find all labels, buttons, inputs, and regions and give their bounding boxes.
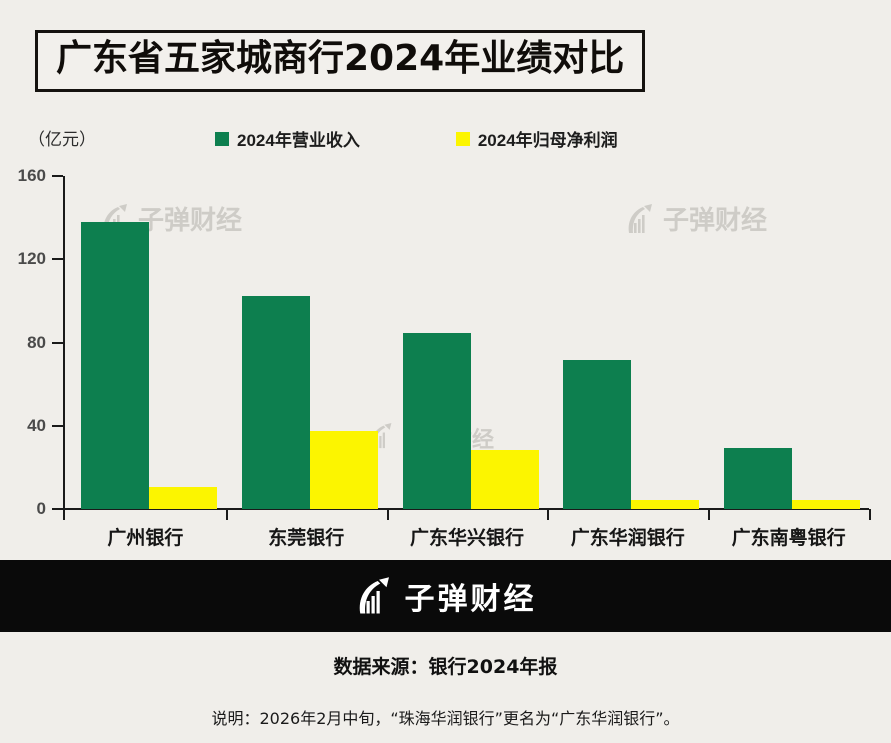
bar-group xyxy=(708,160,869,509)
bar-series-container xyxy=(65,160,869,509)
bar-group xyxy=(226,160,387,509)
legend-label-revenue: 2024年营业收入 xyxy=(237,126,360,151)
data-source-text: 数据来源：银行2024年报 xyxy=(0,652,891,679)
bar-revenue[interactable] xyxy=(403,333,471,509)
x-axis-separator xyxy=(547,509,549,520)
bar-group xyxy=(547,160,708,509)
x-axis-label: 广东华兴银行 xyxy=(387,523,548,550)
legend-label-profit: 2024年归母净利润 xyxy=(478,126,618,151)
y-axis-tick xyxy=(52,508,63,510)
bar-revenue[interactable] xyxy=(81,222,149,509)
bullet-chart-logo-icon xyxy=(355,576,393,616)
x-axis-label: 东莞银行 xyxy=(226,523,387,550)
legend-item-profit[interactable]: 2024年归母净利润 xyxy=(456,126,618,151)
y-axis-tick xyxy=(52,342,63,344)
title-box: 广东省五家城商行2024年业绩对比 xyxy=(35,30,645,92)
bar-profit[interactable] xyxy=(471,450,539,509)
y-axis-tick-label: 160 xyxy=(0,166,46,186)
y-axis-unit-label: （亿元） xyxy=(28,125,96,150)
y-axis-tick-label: 120 xyxy=(0,249,46,269)
x-axis-label: 广州银行 xyxy=(65,523,226,550)
bar-profit[interactable] xyxy=(792,500,860,509)
y-axis-tick xyxy=(52,175,63,177)
bar-profit[interactable] xyxy=(310,431,378,509)
bar-revenue[interactable] xyxy=(242,296,310,509)
y-axis-tick-label: 80 xyxy=(0,333,46,353)
bar-revenue[interactable] xyxy=(563,360,631,509)
chart-plot-area: 子弹财经 子弹财经 子弹财经 04080120160 xyxy=(0,160,891,555)
page-title: 广东省五家城商行2024年业绩对比 xyxy=(56,39,624,79)
x-axis-end-tick xyxy=(869,509,871,520)
y-axis-tick xyxy=(52,425,63,427)
bar-group xyxy=(65,160,226,509)
footnote-text: 说明：2026年2月中旬，“珠海华润银行”更名为“广东华润银行”。 xyxy=(0,705,891,729)
legend-item-revenue[interactable]: 2024年营业收入 xyxy=(215,126,360,151)
bar-revenue[interactable] xyxy=(724,448,792,509)
y-axis-tick xyxy=(52,258,63,260)
footer: 数据来源：银行2024年报 说明：2026年2月中旬，“珠海华润银行”更名为“广… xyxy=(0,632,891,743)
legend-swatch-profit xyxy=(456,132,470,146)
brand-banner: 子弹财经 xyxy=(0,560,891,632)
x-axis-separator xyxy=(708,509,710,520)
bar-profit[interactable] xyxy=(631,500,699,509)
x-axis-label: 广东华润银行 xyxy=(547,523,708,550)
y-axis-tick-label: 40 xyxy=(0,416,46,436)
y-axis-tick-label: 0 xyxy=(0,499,46,519)
x-axis-separator xyxy=(387,509,389,520)
brand-name: 子弹财经 xyxy=(405,574,537,618)
legend-swatch-revenue xyxy=(215,132,229,146)
x-axis-separator xyxy=(226,509,228,520)
bar-group xyxy=(387,160,548,509)
chart-legend: 2024年营业收入 2024年归母净利润 xyxy=(215,126,618,151)
x-axis-label: 广东南粤银行 xyxy=(708,523,869,550)
bar-profit[interactable] xyxy=(149,487,217,509)
x-axis-end-tick xyxy=(63,509,65,520)
